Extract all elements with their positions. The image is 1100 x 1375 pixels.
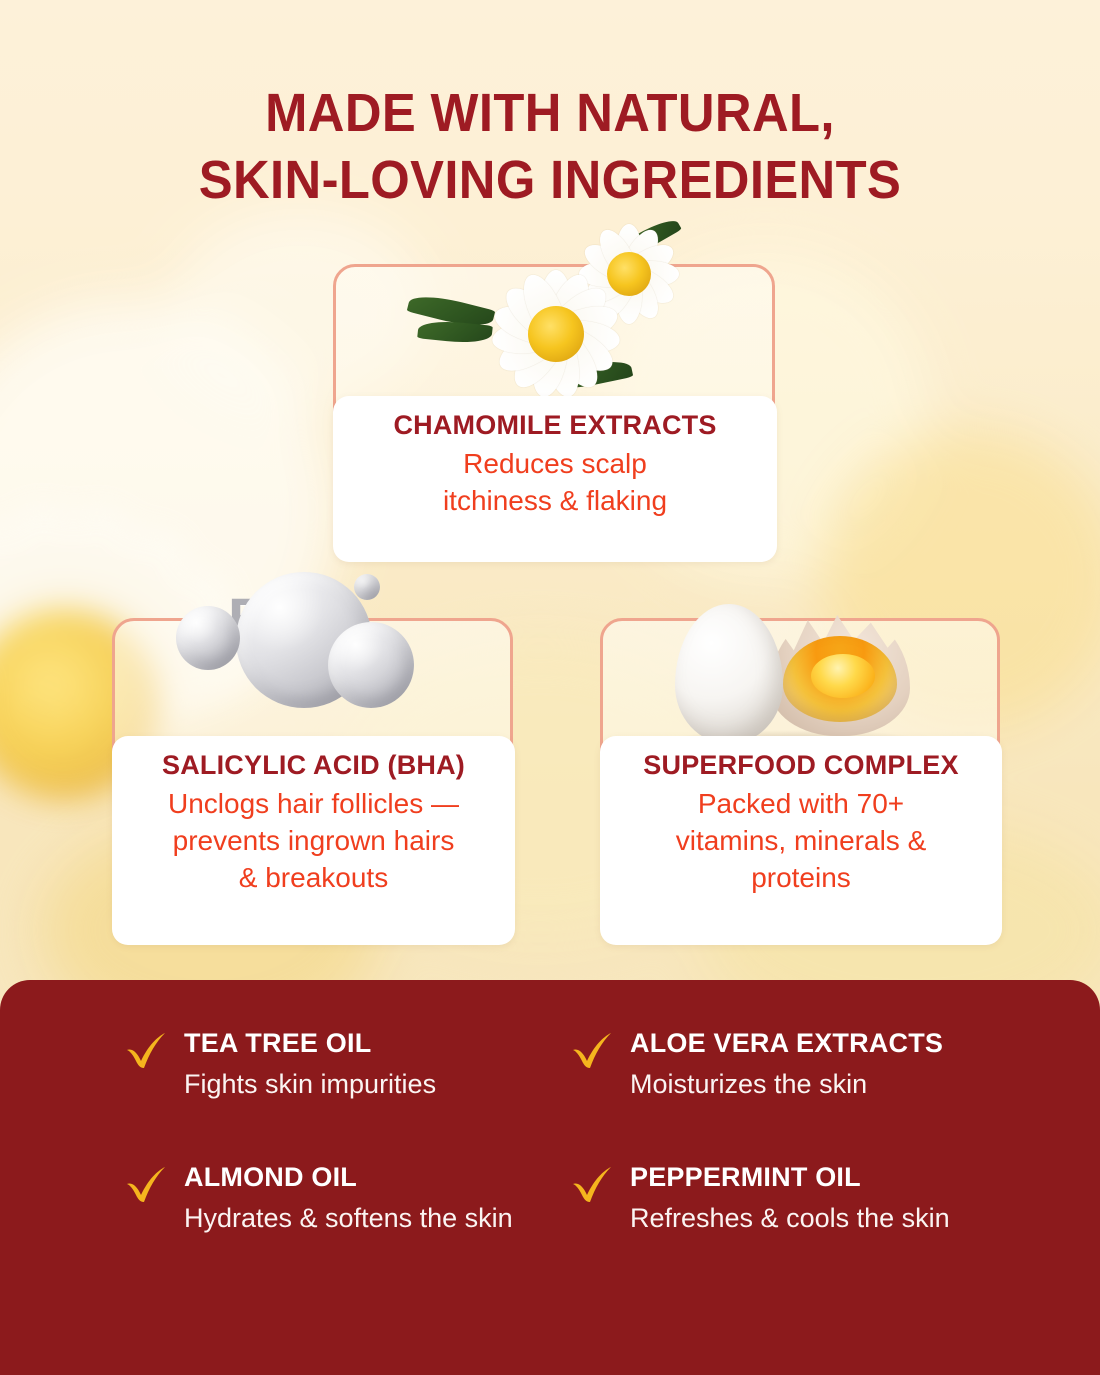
benefit-item-almond-oil: ALMOND OIL Hydrates & softens the skin (124, 1162, 570, 1236)
superfood-complex-body: Packed with 70+ vitamins, minerals & pro… (612, 786, 990, 897)
benefit-item-peppermint-oil: PEPPERMINT OIL Refreshes & cools the ski… (570, 1162, 1042, 1236)
superfood-complex-body-line-3: proteins (751, 862, 851, 893)
benefits-grid: TEA TREE OIL Fights skin impurities ALOE… (124, 1028, 1042, 1236)
salicylic-acid-body-line-2: prevents ingrown hairs (173, 825, 455, 856)
superfood-complex-body-line-2: vitamins, minerals & (676, 825, 927, 856)
benefit-title: ALMOND OIL (184, 1162, 570, 1193)
benefit-desc: Moisturizes the skin (630, 1066, 960, 1102)
benefits-footer-panel: TEA TREE OIL Fights skin impurities ALOE… (0, 980, 1100, 1375)
benefit-title: PEPPERMINT OIL (630, 1162, 1042, 1193)
chamomile-body: Reduces scalp itchiness & flaking (345, 446, 765, 520)
benefit-title: ALOE VERA EXTRACTS (630, 1028, 1042, 1059)
benefit-title: TEA TREE OIL (184, 1028, 570, 1059)
benefit-desc: Fights skin impurities (184, 1066, 514, 1102)
benefit-item-aloe-vera: ALOE VERA EXTRACTS Moisturizes the skin (570, 1028, 1042, 1102)
benefit-desc: Hydrates & softens the skin (184, 1200, 514, 1236)
salicylic-acid-body: Unclogs hair follicles — prevents ingrow… (124, 786, 503, 897)
benefit-item-tea-tree-oil: TEA TREE OIL Fights skin impurities (124, 1028, 570, 1102)
page-title: MADE WITH NATURAL, SKIN-LOVING INGREDIEN… (33, 80, 1067, 214)
infographic-root: MADE WITH NATURAL, SKIN-LOVING INGREDIEN… (0, 0, 1100, 1375)
check-icon (124, 1030, 168, 1070)
title-line-1: MADE WITH NATURAL, (265, 83, 835, 143)
superfood-complex-heading: SUPERFOOD COMPLEX (612, 750, 990, 782)
superfood-complex-text-panel: SUPERFOOD COMPLEX Packed with 70+ vitami… (600, 736, 1002, 945)
chamomile-text-panel: CHAMOMILE EXTRACTS Reduces scalp itchine… (333, 396, 777, 562)
check-icon (570, 1030, 614, 1070)
chamomile-body-line-1: Reduces scalp (463, 448, 647, 479)
salicylic-acid-body-line-1: Unclogs hair follicles — (168, 788, 459, 819)
salicylic-acid-heading: SALICYLIC ACID (BHA) (124, 750, 503, 782)
check-icon (124, 1164, 168, 1204)
check-icon (570, 1164, 614, 1204)
benefit-desc: Refreshes & cools the skin (630, 1200, 960, 1236)
salicylic-acid-text-panel: SALICYLIC ACID (BHA) Unclogs hair follic… (112, 736, 515, 945)
title-line-2: SKIN-LOVING INGREDIENTS (33, 147, 1067, 214)
salicylic-acid-body-line-3: & breakouts (239, 862, 388, 893)
superfood-complex-body-line-1: Packed with 70+ (698, 788, 904, 819)
chamomile-body-line-2: itchiness & flaking (443, 485, 667, 516)
chamomile-heading: CHAMOMILE EXTRACTS (345, 410, 765, 442)
